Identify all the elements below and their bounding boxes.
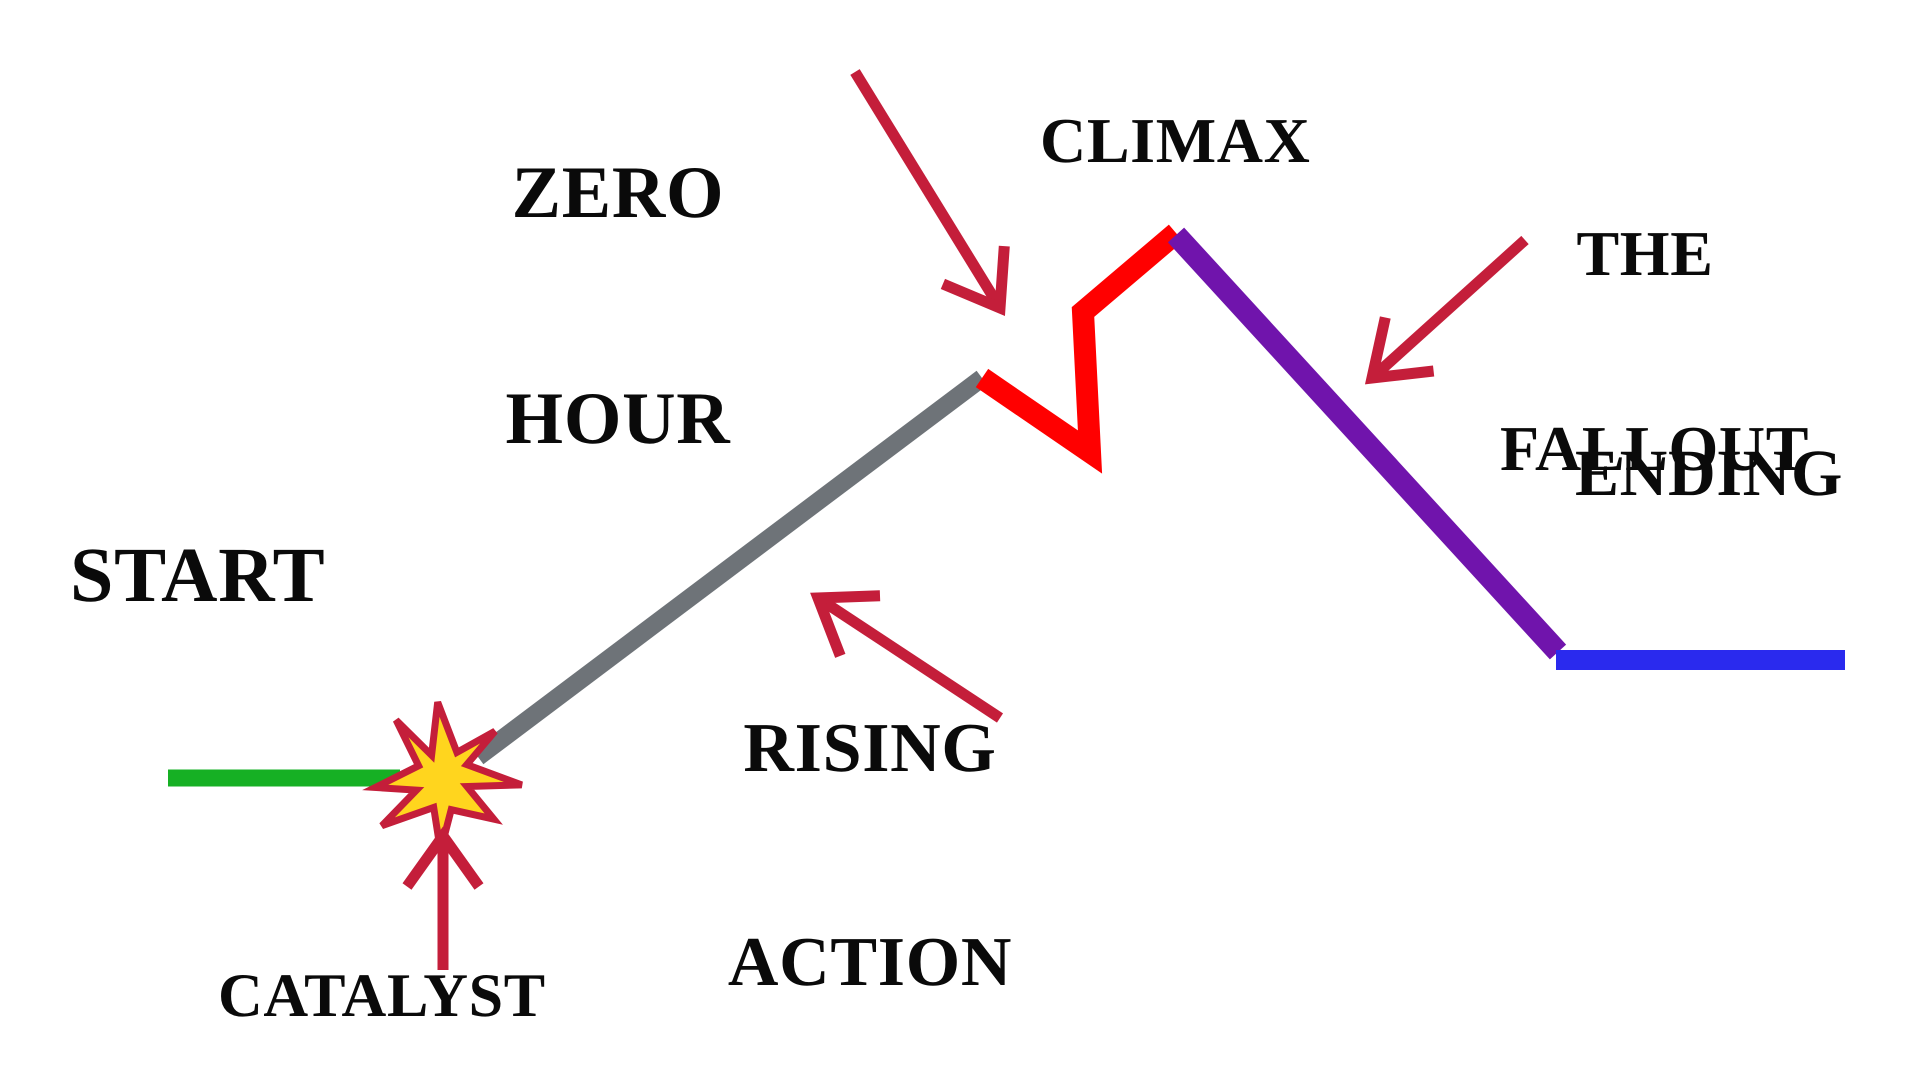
label-zero-hour-line-2: HOUR <box>468 382 768 457</box>
zero-hour-arrow <box>855 72 1004 308</box>
label-start: START <box>70 535 325 615</box>
label-rising-action-line-1: RISING <box>690 713 1050 784</box>
label-zero-hour: ZERO HOUR <box>468 5 768 609</box>
catalyst-arrow <box>407 836 479 970</box>
catalyst-star-icon <box>375 702 521 851</box>
label-zero-hour-line-1: ZERO <box>468 156 768 231</box>
label-ending: ENDING <box>1575 440 1843 507</box>
label-climax: CLIMAX <box>1040 108 1311 173</box>
climax-segment <box>982 233 1176 452</box>
label-rising-action-line-2: ACTION <box>690 927 1050 998</box>
label-the-fallout-line-1: THE <box>1500 221 1790 286</box>
story-structure-diagram: START CATALYST ZERO HOUR RISING ACTION C… <box>0 0 1920 1080</box>
label-rising-action: RISING ACTION <box>690 570 1050 1080</box>
label-catalyst: CATALYST <box>218 965 546 1028</box>
label-the-fallout: THE FALLOUT <box>1500 90 1790 612</box>
